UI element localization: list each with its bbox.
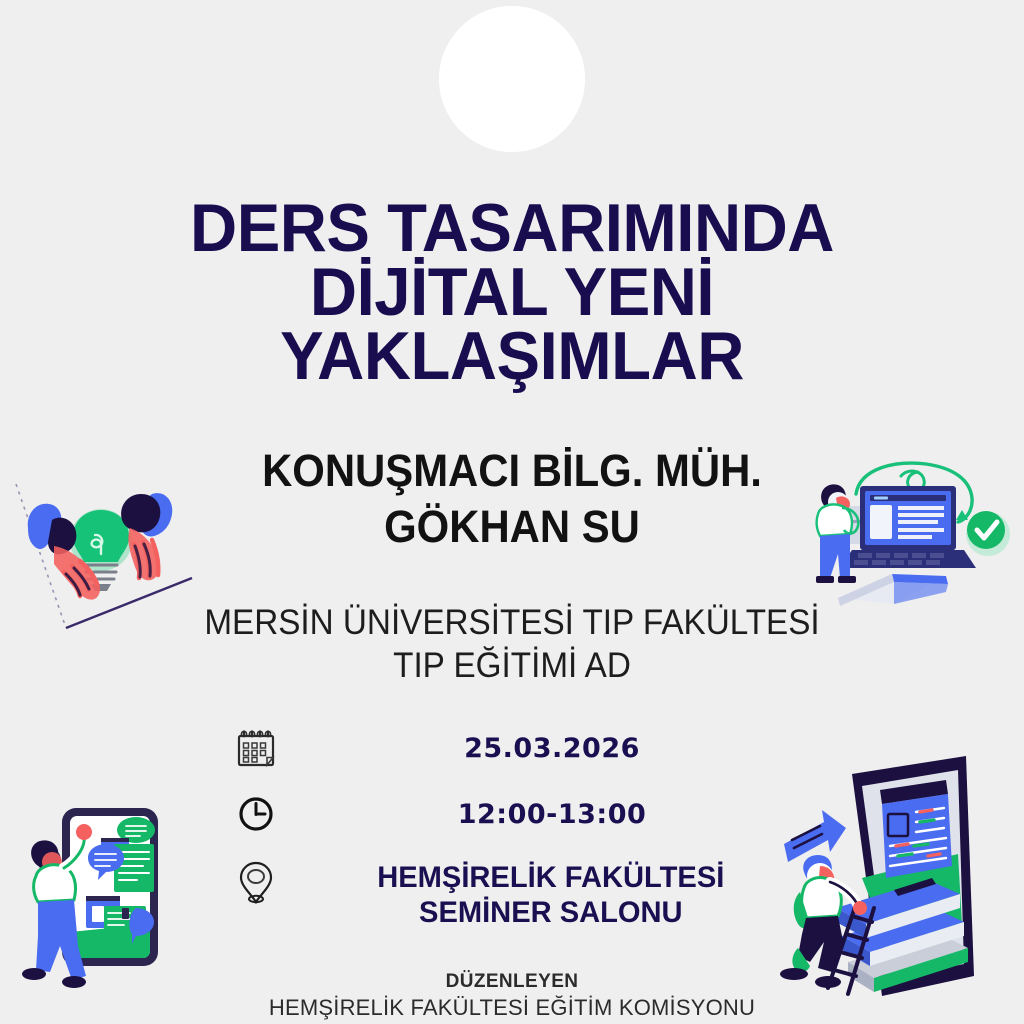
hands-holding-lightbulb-illustration xyxy=(6,432,206,652)
poster-title: DERS TASARIMINDA DİJİTAL YENİ YAKLAŞIMLA… xyxy=(20,196,1003,388)
seminar-poster: MERSİN ÜNİVERSİTESİ 1992 DERS TASARIMIND… xyxy=(0,0,1024,1024)
title-line-3: YAKLAŞIMLAR xyxy=(20,324,1003,388)
person-climbing-ladder-to-books-illustration xyxy=(770,748,1024,1024)
logo-circle-background xyxy=(439,6,585,152)
clock-icon xyxy=(232,792,280,840)
person-with-laptop-and-book-illustration xyxy=(796,458,1018,610)
mersin-universitesi-logo: MERSİN ÜNİVERSİTESİ 1992 xyxy=(439,6,585,152)
title-line-1: DERS TASARIMINDA xyxy=(20,196,1003,260)
person-with-phone-and-chat-bubbles-illustration xyxy=(16,796,216,1024)
title-line-2: DİJİTAL YENİ xyxy=(20,260,1003,324)
calendar-icon xyxy=(232,726,280,774)
